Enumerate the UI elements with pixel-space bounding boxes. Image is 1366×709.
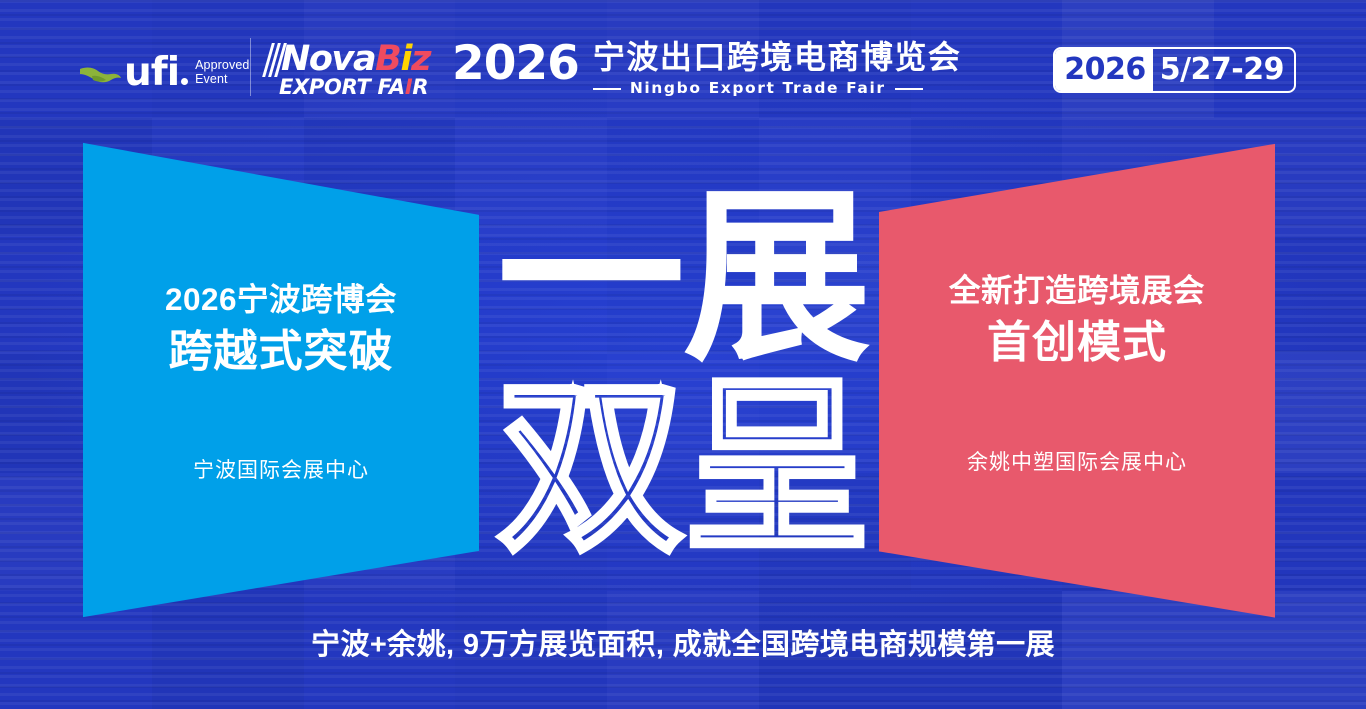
event-title-year: 2026: [452, 38, 579, 90]
event-title: 2026 宁波出口跨境电商博览会 Ningbo Export Trade Fai…: [452, 38, 961, 97]
novabiz-subtitle: EXPORT FAIR: [279, 76, 428, 99]
panel-yuyao-venue-wrap: 余姚中塑国际会展中心: [879, 450, 1275, 476]
center-slogan-top: 一展: [484, 186, 882, 372]
event-title-english: Ningbo Export Trade Fair: [621, 80, 895, 97]
novabiz-subtitle-right: R: [412, 75, 428, 99]
date-badge-year: 2026: [1055, 49, 1153, 91]
ufi-dot-icon: [181, 78, 188, 85]
title-rule-right: [895, 88, 923, 90]
panel-yuyao-line2: 首创模式: [879, 315, 1275, 371]
event-title-text: 宁波出口跨境电商博览会 Ningbo Export Trade Fair: [593, 38, 962, 97]
event-title-chinese: 宁波出口跨境电商博览会: [593, 40, 962, 75]
date-badge-range: 5/27-29: [1153, 49, 1294, 91]
ufi-sub-line2: Event: [195, 73, 249, 87]
event-title-english-row: Ningbo Export Trade Fair: [593, 80, 962, 97]
date-badge: 2026 5/27-29: [1053, 47, 1296, 93]
panel-yuyao-line1: 全新打造跨境展会: [879, 271, 1275, 309]
panel-ningbo-headline: 2026宁波跨博会 跨越式突破: [83, 280, 479, 380]
novabiz-z: z: [411, 39, 430, 79]
header-divider: [250, 38, 251, 96]
panel-ningbo: 2026宁波跨博会 跨越式突破 宁波国际会展中心: [83, 140, 479, 620]
center-slogan-bottom: 双呈: [484, 376, 882, 562]
panel-yuyao-headline: 全新打造跨境展会 首创模式: [879, 271, 1275, 371]
panel-ningbo-line2: 跨越式突破: [83, 324, 479, 380]
title-rule-left: [593, 88, 621, 90]
ufi-wordmark: ufi: [124, 56, 188, 90]
panel-yuyao: 全新打造跨境展会 首创模式 余姚中塑国际会展中心: [879, 140, 1275, 620]
novabiz-b: B: [375, 39, 400, 79]
footer-tagline: 宁波+余姚, 9万方展览面积, 成就全国跨境电商规模第一展: [0, 625, 1366, 665]
promo-banner: ufi Approved Event NovaBiz EXPORT FAIR 2…: [0, 0, 1366, 709]
banner-header: ufi Approved Event NovaBiz EXPORT FAIR 2…: [0, 0, 1366, 118]
novabiz-i: i: [400, 40, 411, 78]
ufi-sub-line1: Approved: [195, 59, 249, 73]
ufi-leaf-icon: [78, 65, 122, 87]
novabiz-subtitle-left: EXPORT FA: [279, 75, 405, 99]
ufi-wordmark-text: ufi: [124, 50, 179, 95]
novabiz-nova: Nova: [281, 39, 375, 79]
panel-ningbo-line1: 2026宁波跨博会: [83, 280, 479, 318]
center-slogan: 一展 双呈: [484, 186, 882, 582]
panel-ningbo-venue: 宁波国际会展中心: [83, 458, 479, 484]
panel-ningbo-venue-wrap: 宁波国际会展中心: [83, 458, 479, 484]
ufi-logo: ufi Approved Event: [78, 46, 249, 90]
novabiz-logo: NovaBiz EXPORT FAIR: [267, 40, 427, 102]
panel-yuyao-venue: 余姚中塑国际会展中心: [879, 450, 1275, 476]
ufi-approved-event: Approved Event: [195, 59, 249, 86]
novabiz-wordmark: NovaBiz: [281, 40, 430, 78]
